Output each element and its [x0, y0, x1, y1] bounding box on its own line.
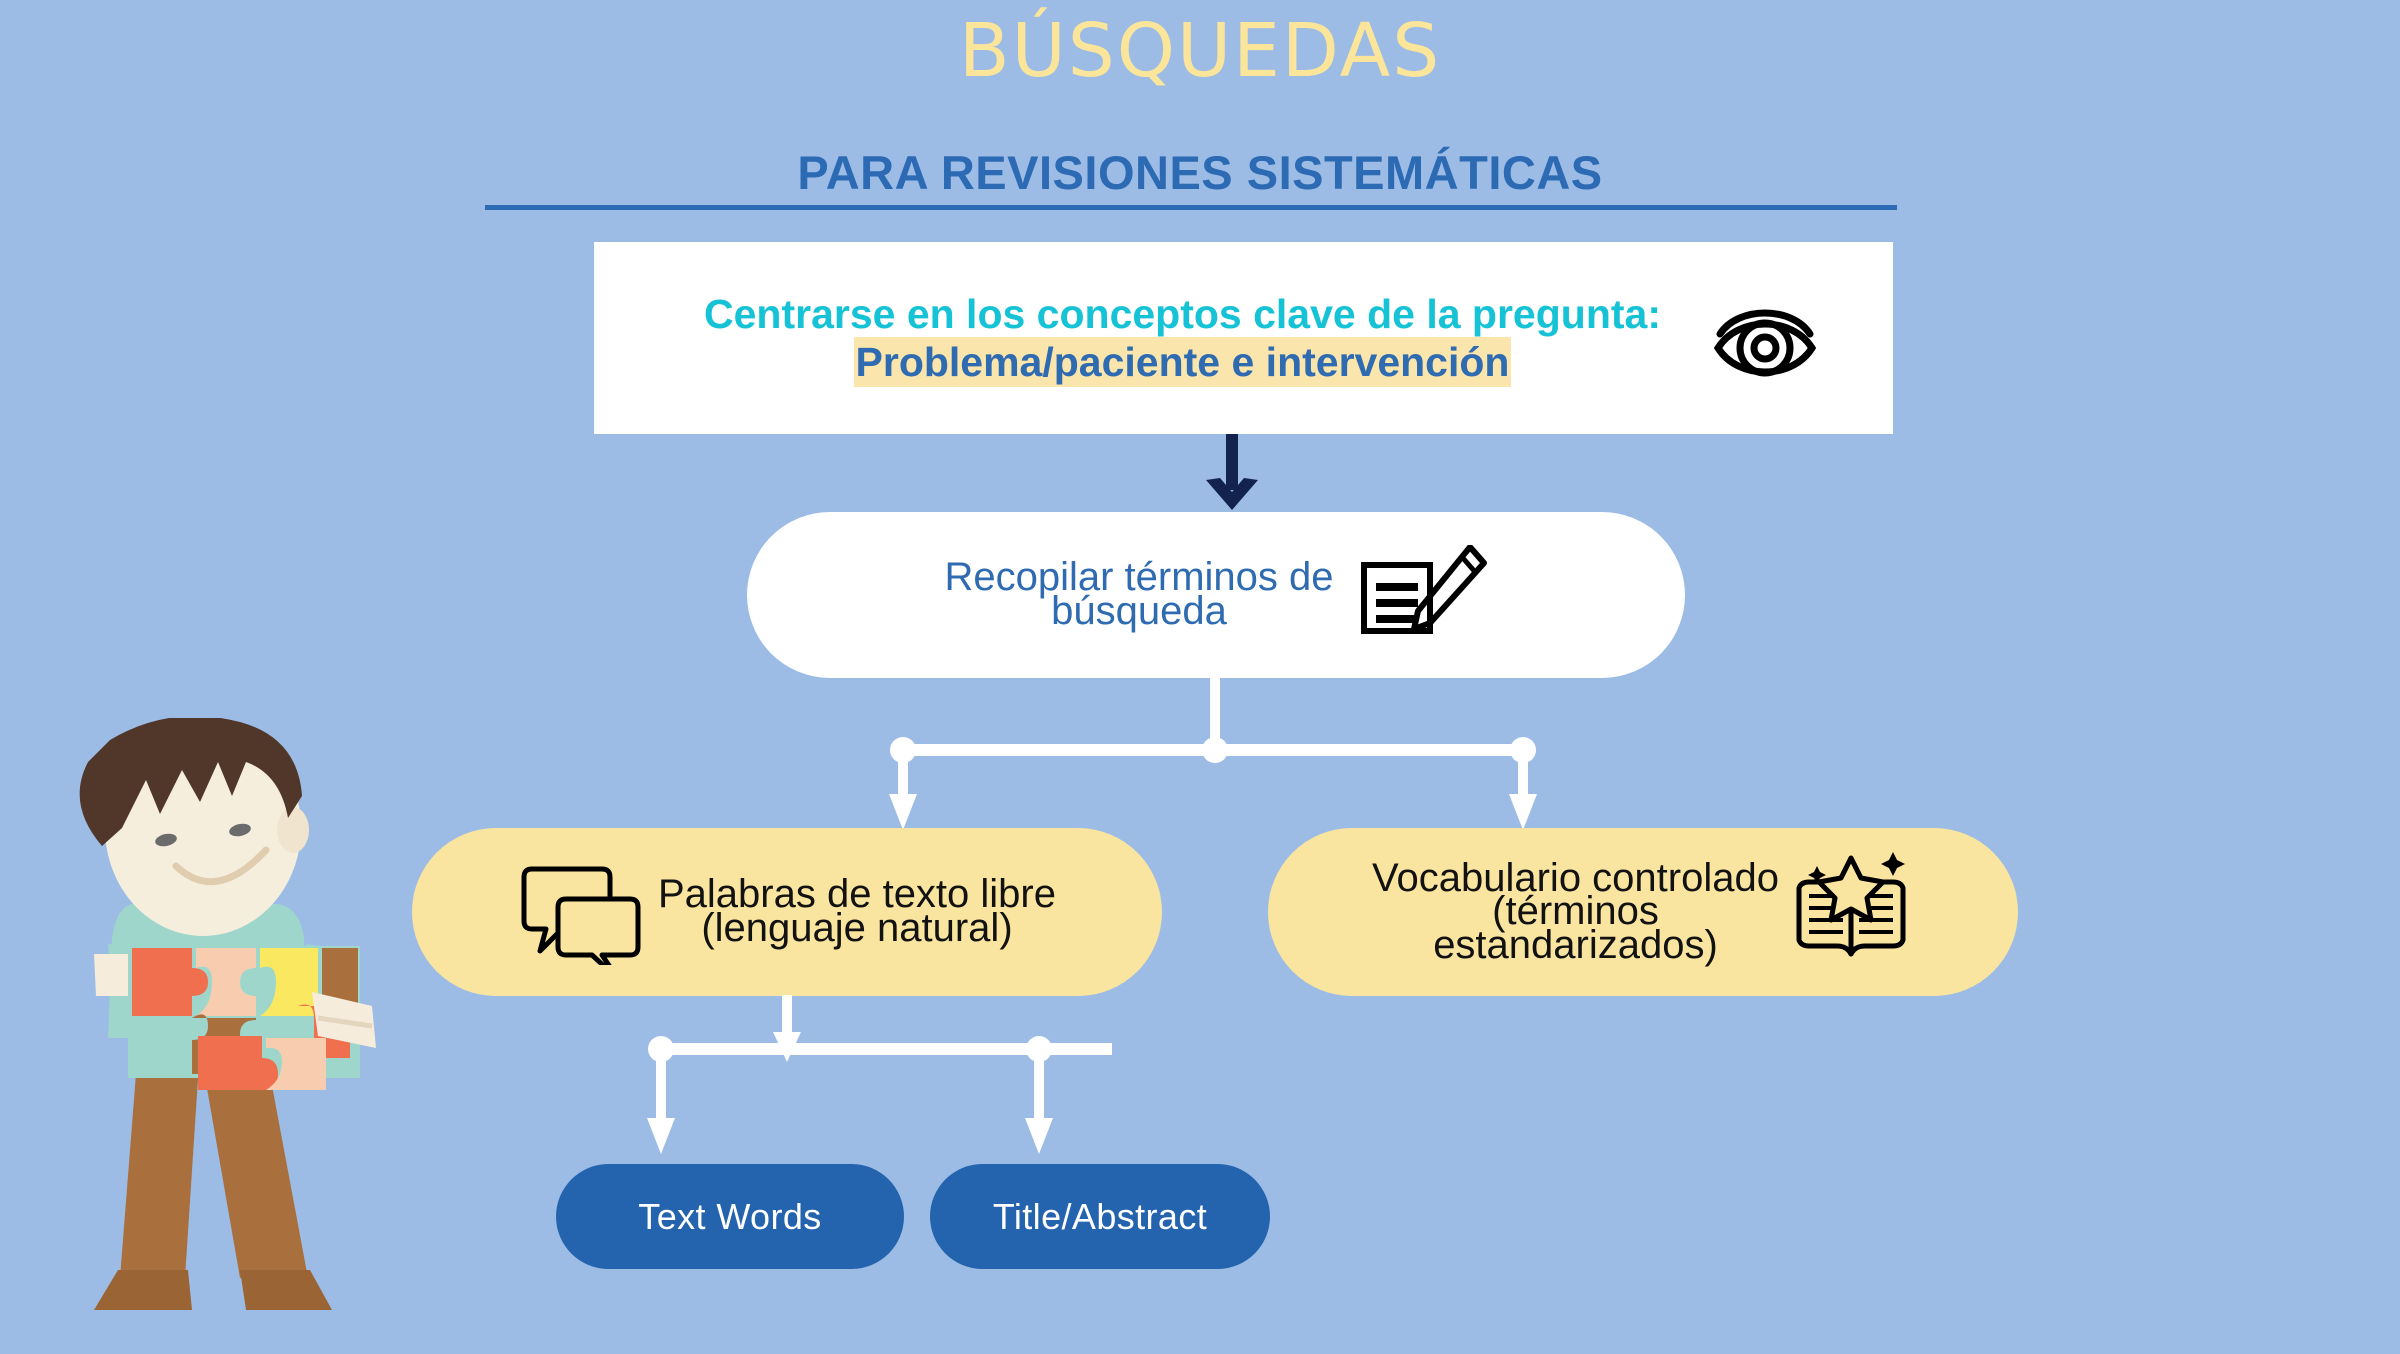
eye-icon — [1710, 290, 1820, 386]
leaf-title-abstract-label: Title/Abstract — [993, 1196, 1207, 1238]
step1-text: Centrarse en los conceptos clave de la p… — [668, 290, 1698, 387]
branch-controlled-vocabulary: Vocabulario controlado (términos estanda… — [1268, 828, 2018, 996]
arrowhead-to-title-abstract — [1021, 1118, 1057, 1160]
speech-bubbles-icon — [518, 855, 648, 969]
step-focus-key-concepts: Centrarse en los conceptos clave de la p… — [594, 242, 1893, 434]
connector-leaf-left-drop — [656, 1049, 666, 1127]
title-divider — [485, 205, 1897, 210]
step1-highlight-text: Problema/paciente e intervención — [854, 337, 1512, 387]
note-pencil-icon — [1358, 545, 1488, 645]
leaf-title-abstract[interactable]: Title/Abstract — [930, 1164, 1270, 1269]
step-collect-search-terms: Recopilar términos de búsqueda — [747, 512, 1685, 678]
connector-node-center — [1202, 737, 1228, 763]
leaf-text-words-label: Text Words — [638, 1196, 821, 1238]
branch-free-text-label: Palabras de texto libre (lenguaje natura… — [658, 878, 1056, 945]
connector-leaf-right-drop — [1034, 1049, 1044, 1127]
step1-lead-text: Centrarse en los conceptos clave de la p… — [704, 291, 1661, 337]
step1-content: Centrarse en los conceptos clave de la p… — [594, 290, 1893, 387]
branch-free-text-words: Palabras de texto libre (lenguaje natura… — [412, 828, 1162, 996]
boy-with-puzzle-illustration — [50, 718, 390, 1354]
open-book-star-icon — [1789, 850, 1914, 974]
step2-text: Recopilar términos de búsqueda — [944, 561, 1333, 628]
leaf-text-words[interactable]: Text Words — [556, 1164, 904, 1269]
branch-controlled-label: Vocabulario controlado (términos estanda… — [1372, 862, 1779, 963]
arrow-step1-to-step2 — [1196, 434, 1268, 520]
page-title: BÚSQUEDAS — [0, 14, 2400, 88]
page-subtitle: PARA REVISIONES SISTEMÁTICAS — [0, 145, 2400, 200]
arrowhead-to-text-words — [643, 1118, 679, 1160]
